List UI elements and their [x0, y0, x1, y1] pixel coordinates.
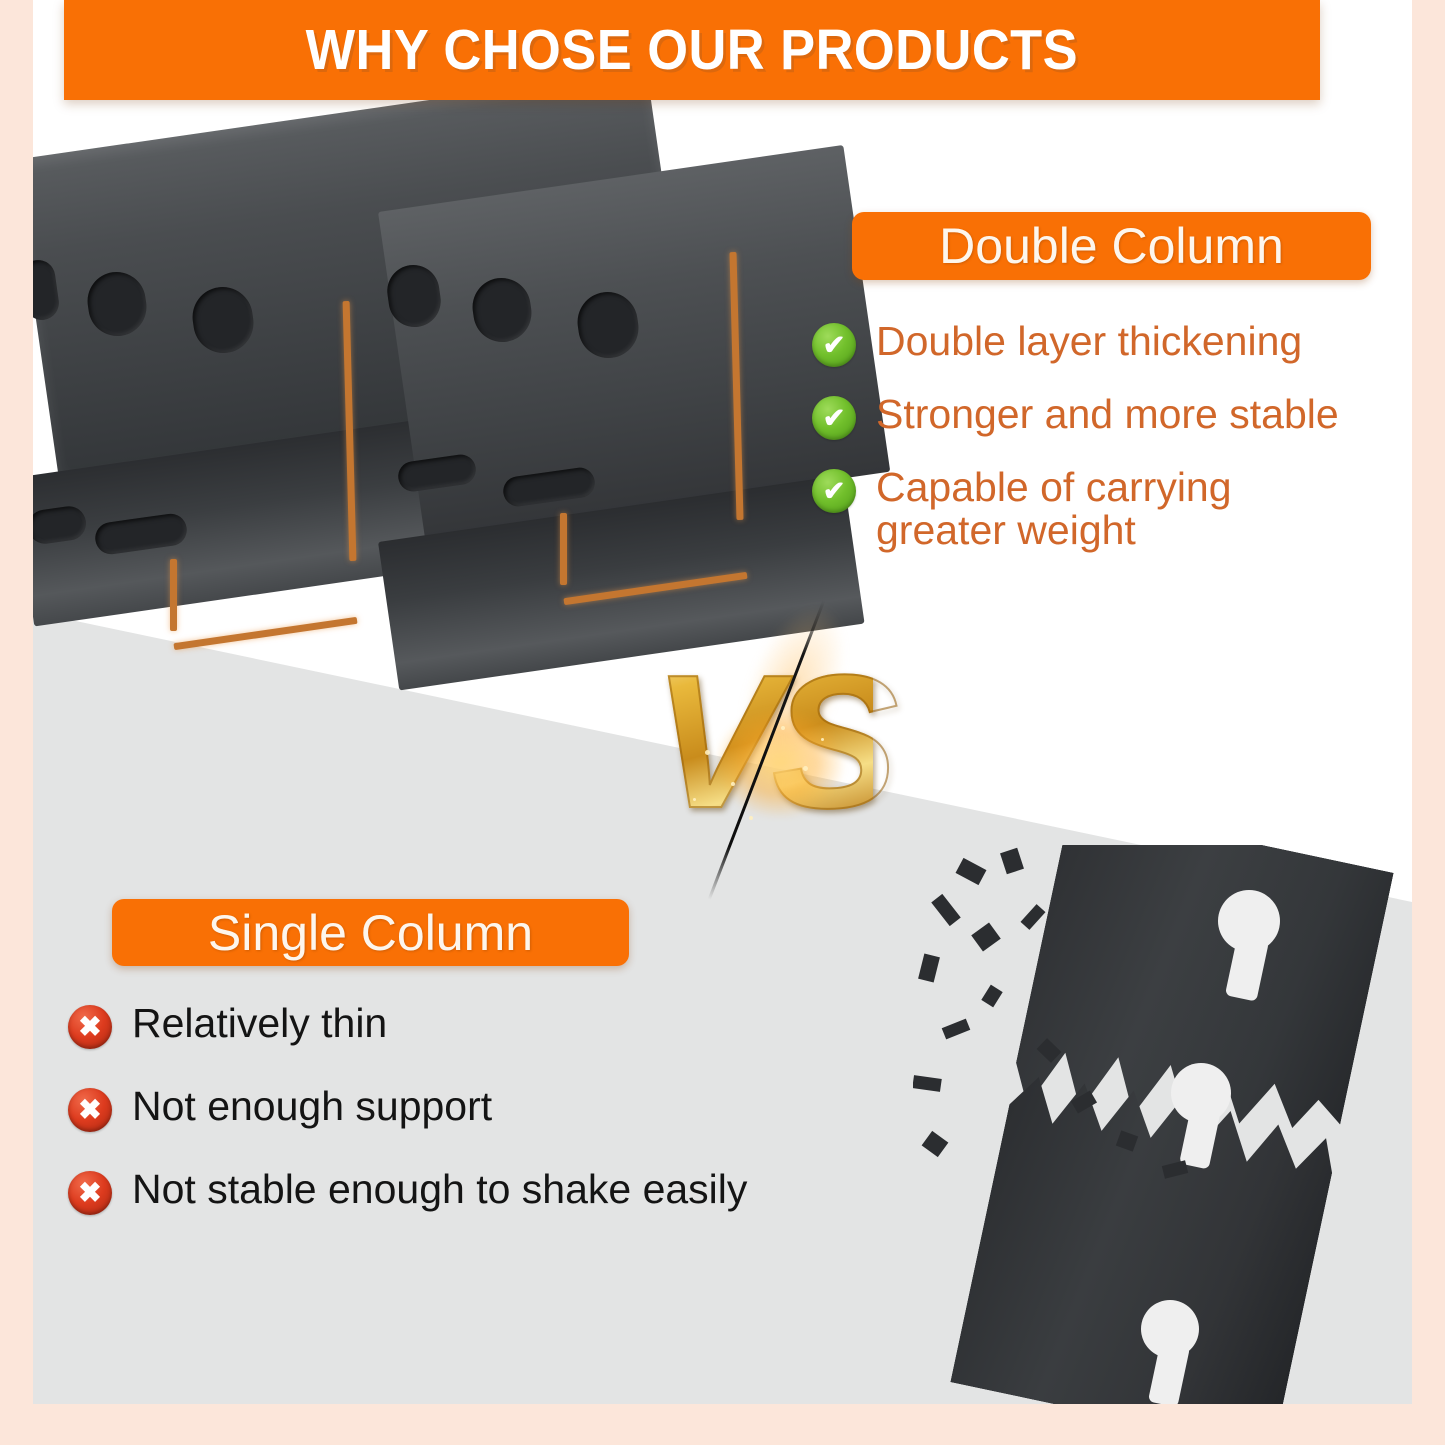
check-glyph: ✔: [812, 396, 856, 440]
x-circle-icon: ✖: [68, 1005, 112, 1049]
cons-list: ✖ Relatively thin ✖ Not enough support ✖…: [68, 1002, 858, 1251]
infographic-page: VS: [0, 0, 1445, 1445]
single-column-label-text: Single Column: [208, 904, 533, 962]
copper-edge-highlight: [173, 617, 357, 650]
pros-item-text: Double layer thickening: [876, 320, 1302, 363]
debris-shard: [971, 922, 1001, 951]
check-circle-icon: ✔: [812, 469, 856, 513]
debris-shard: [1021, 904, 1046, 930]
list-item: ✔ Stronger and more stable: [812, 393, 1412, 440]
cross-glyph: ✖: [68, 1171, 112, 1215]
debris-shard: [956, 858, 987, 885]
check-circle-icon: ✔: [812, 396, 856, 440]
single-column-label-badge: Single Column: [112, 899, 629, 966]
spark-particle: [705, 750, 710, 755]
broken-column-lower-piece: [950, 1059, 1341, 1404]
spark-particle: [749, 816, 753, 820]
check-glyph: ✔: [812, 469, 856, 513]
cons-item-text: Not stable enough to shake easily: [132, 1168, 747, 1211]
pros-list: ✔ Double layer thickening ✔ Stronger and…: [812, 320, 1412, 577]
spark-particle: [781, 726, 785, 730]
content-card: VS: [33, 0, 1412, 1404]
page-title: WHY CHOSE OUR PRODUCTS: [306, 17, 1078, 83]
list-item: ✔ Capable of carrying greater weight: [812, 466, 1412, 551]
x-circle-icon: ✖: [68, 1171, 112, 1215]
list-item: ✖ Relatively thin: [68, 1002, 858, 1049]
double-column-label-badge: Double Column: [852, 212, 1371, 280]
debris-shard: [981, 985, 1002, 1008]
header-banner: WHY CHOSE OUR PRODUCTS: [64, 0, 1320, 100]
copper-edge-highlight: [170, 559, 177, 631]
broken-single-column-photo: [913, 845, 1412, 1404]
spark-particle: [821, 738, 824, 741]
check-glyph: ✔: [812, 323, 856, 367]
list-item: ✖ Not enough support: [68, 1085, 858, 1132]
spark-particle: [803, 766, 808, 771]
list-item: ✖ Not stable enough to shake easily: [68, 1168, 858, 1215]
cons-item-text: Relatively thin: [132, 1002, 387, 1045]
double-column-label-text: Double Column: [939, 217, 1284, 275]
cross-glyph: ✖: [68, 1005, 112, 1049]
cons-item-text: Not enough support: [132, 1085, 492, 1128]
pros-item-line2: greater weight: [876, 509, 1232, 552]
pros-item-text-wrapped: Capable of carrying greater weight: [876, 466, 1232, 551]
debris-shard: [918, 953, 940, 982]
vs-center-glow: [715, 708, 845, 818]
debris-shard: [942, 1019, 971, 1040]
debris-shard: [931, 894, 961, 926]
double-column-steel-beams-photo: [33, 140, 823, 600]
check-circle-icon: ✔: [812, 323, 856, 367]
cross-glyph: ✖: [68, 1088, 112, 1132]
debris-shard: [913, 1075, 942, 1092]
debris-shard: [922, 1131, 949, 1157]
debris-shard: [1000, 848, 1024, 874]
x-circle-icon: ✖: [68, 1088, 112, 1132]
pros-item-text: Stronger and more stable: [876, 393, 1339, 436]
list-item: ✔ Double layer thickening: [812, 320, 1412, 367]
versus-divider: VS: [653, 630, 873, 860]
copper-edge-highlight: [560, 513, 567, 585]
pros-item-line1: Capable of carrying: [876, 464, 1232, 510]
spark-particle: [693, 798, 696, 801]
spark-particle: [731, 782, 735, 786]
